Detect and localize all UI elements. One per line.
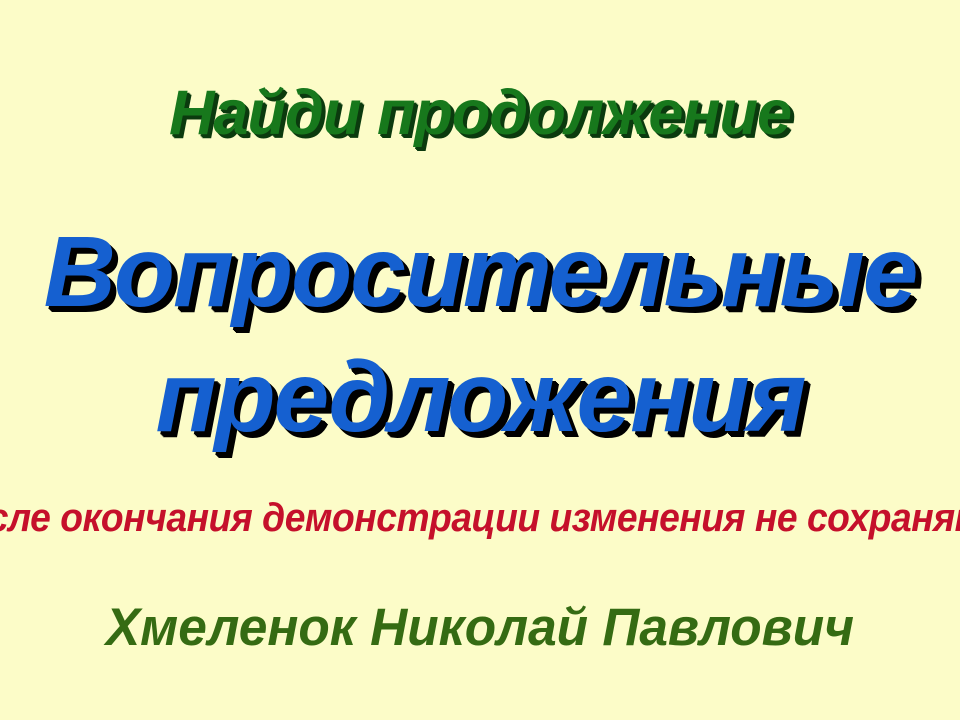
presentation-slide: Найди продолжение Вопросительные предлож… [0, 0, 960, 720]
save-warning-note: После окончания демонстрации изменения н… [0, 498, 960, 538]
answer-text-line-1: Вопросительные [44, 222, 917, 322]
slide-heading: Найди продолжение [169, 82, 791, 145]
answer-text-line-2: предложения [155, 347, 804, 447]
author-name: Хмеленок Николай Павлович [106, 601, 854, 654]
